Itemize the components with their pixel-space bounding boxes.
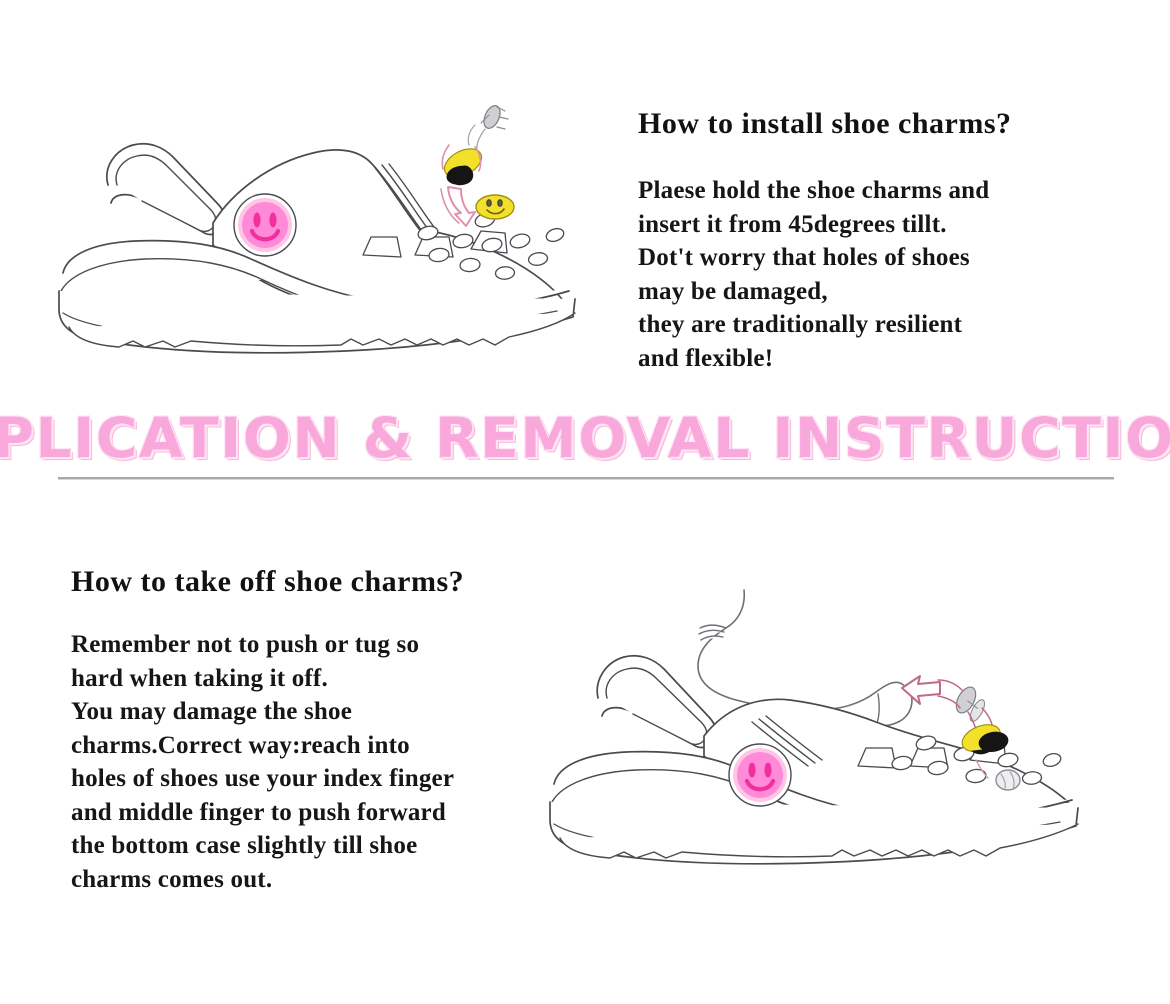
install-body-text: Plaese hold the shoe charms and insert i… <box>638 174 1078 375</box>
instruction-sheet: How to install shoe charms? Plaese hold … <box>0 0 1170 1004</box>
install-line-4: may be damaged, <box>638 275 1078 309</box>
seated-charm-icon <box>476 195 514 219</box>
banner: APPLICATION & REMOVAL INSTRUCTIONS <box>0 404 1170 476</box>
strap-charm-install <box>232 192 298 258</box>
insert-arrow-icon <box>448 187 475 226</box>
removal-illustration <box>540 588 1140 898</box>
install-line-1: Plaese hold the shoe charms and <box>638 174 1078 208</box>
removal-body-text: Remember not to push or tug so hard when… <box>71 628 561 896</box>
clog-shoe-install-svg <box>45 95 625 365</box>
removal-heading: How to take off shoe charms? <box>71 565 464 599</box>
removal-line-6: and middle finger to push forward <box>71 796 561 830</box>
tilted-charm-icon <box>436 143 490 193</box>
removal-line-4: charms.Correct way:reach into <box>71 729 561 763</box>
install-line-3: Dot't worry that holes of shoes <box>638 241 1078 275</box>
banner-title: APPLICATION & REMOVAL INSTRUCTIONS <box>0 410 1170 466</box>
install-heading: How to install shoe charms? <box>638 107 1012 141</box>
install-line-5: they are traditionally resilient <box>638 308 1078 342</box>
clog-shoe-removal-svg <box>540 588 1140 898</box>
install-illustration <box>45 95 625 365</box>
removal-line-1: Remember not to push or tug so <box>71 628 561 662</box>
section-divider <box>58 477 1114 480</box>
removal-line-2: hard when taking it off. <box>71 662 561 696</box>
ejected-plug-icon <box>996 770 1020 790</box>
removal-line-5: holes of shoes use your index finger <box>71 762 561 796</box>
removal-line-3: You may damage the shoe <box>71 695 561 729</box>
removal-line-8: charms comes out. <box>71 863 561 897</box>
charm-plug-icon <box>468 103 508 151</box>
install-line-6: and flexible! <box>638 342 1078 376</box>
strap-charm-removal <box>727 742 793 808</box>
pink-smiley-icon <box>727 742 793 808</box>
pink-smiley-icon <box>232 192 298 258</box>
removal-line-7: the bottom case slightly till shoe <box>71 829 561 863</box>
install-line-2: insert it from 45degrees tillt. <box>638 208 1078 242</box>
